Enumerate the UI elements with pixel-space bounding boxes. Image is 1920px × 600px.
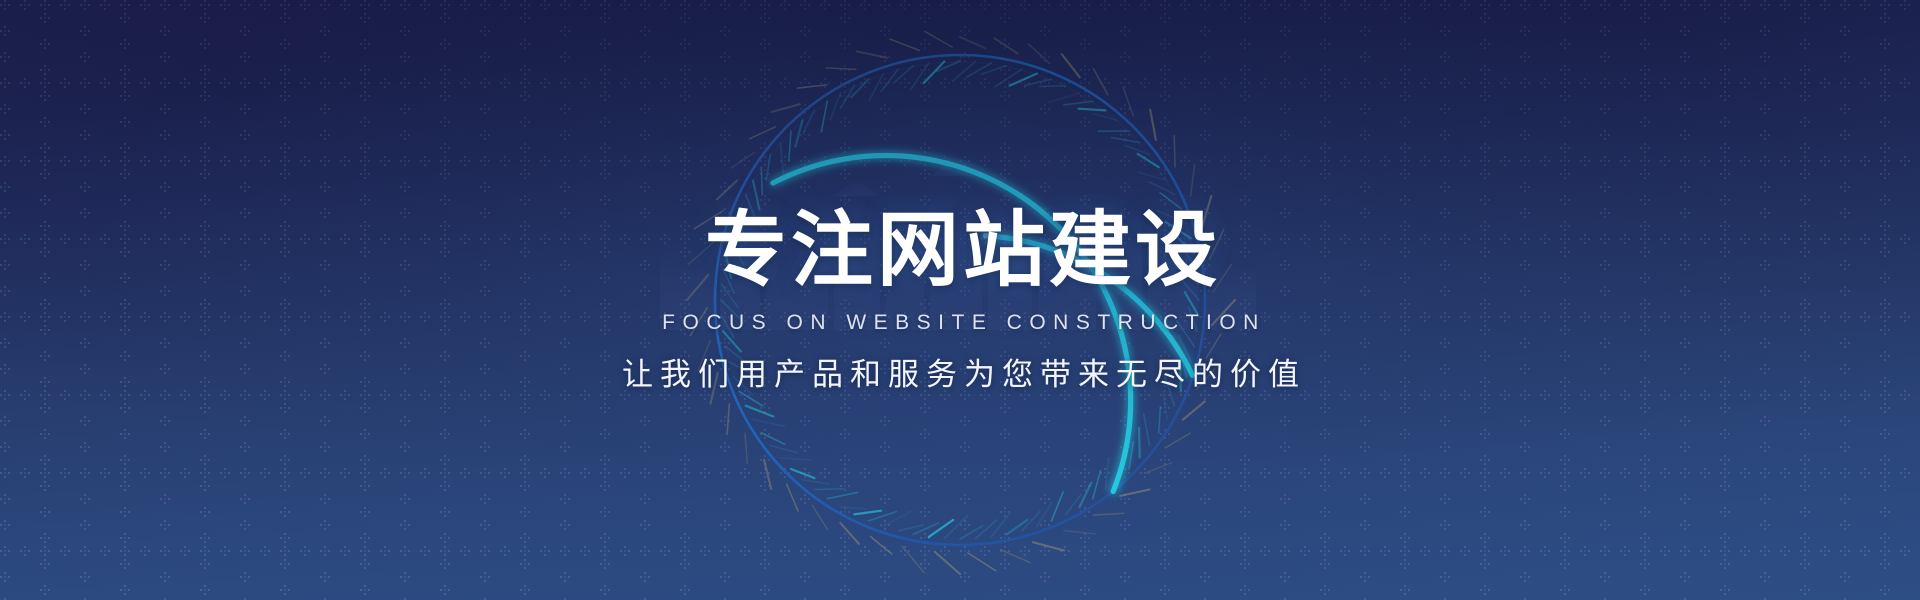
hero-banner: 专注网站建设 FOCUS ON WEBSITE CONSTRUCTION 让我们… [0,0,1920,600]
banner-title: 专注网站建设 [699,210,1221,292]
banner-subtitle: FOCUS ON WEBSITE CONSTRUCTION [654,312,1266,333]
banner-tagline: 让我们用产品和服务为您带来无尽的价值 [614,359,1306,390]
banner-content: 专注网站建设 FOCUS ON WEBSITE CONSTRUCTION 让我们… [0,0,1920,600]
